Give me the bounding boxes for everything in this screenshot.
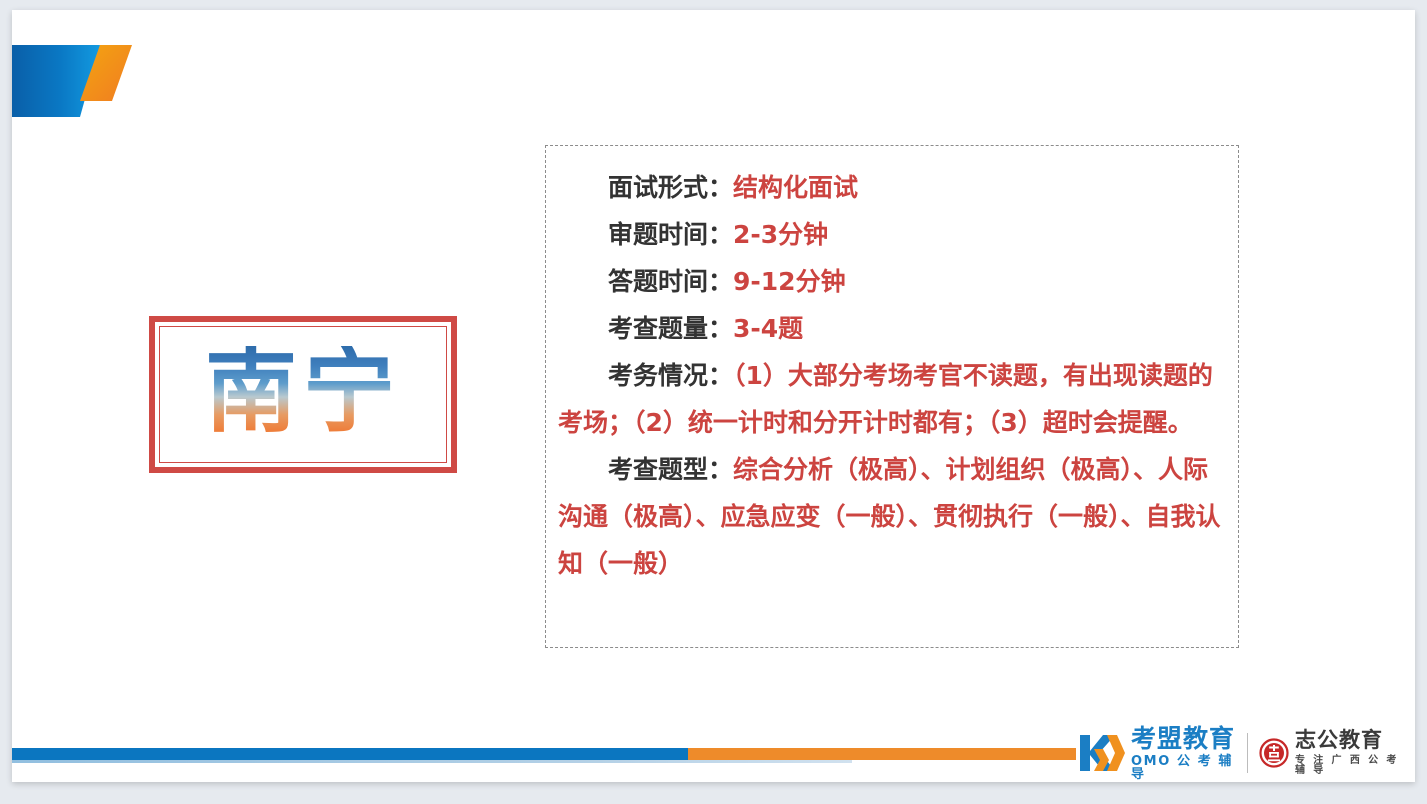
city-name: 南宁 [205, 346, 401, 444]
info-paragraph-label: 考查题型： [608, 455, 733, 484]
footer-rule-shadow [12, 760, 852, 763]
info-row: 面试形式：结构化面试 [558, 164, 1228, 211]
footer-logo-lockup: 考盟教育 OMO 公 考 辅 导 志公教育 专 注 广 西 公 考 辅 导 [1076, 728, 1415, 778]
info-row: 审题时间：2-3分钟 [558, 211, 1228, 258]
partner-text-group: 志公教育 专 注 广 西 公 考 辅 导 [1295, 730, 1415, 776]
info-row-label: 审题时间： [608, 220, 733, 249]
city-badge-frame: 南宁 [149, 316, 457, 473]
info-row: 答题时间：9-12分钟 [558, 258, 1228, 305]
brand-subtitle: OMO 公 考 辅 导 [1131, 755, 1236, 781]
info-row-label: 面试形式： [608, 173, 733, 202]
info-paragraph: 考查题型：综合分析（极高）、计划组织（极高）、人际沟通（极高）、应急应变（一般）… [558, 446, 1228, 587]
footer-rule [12, 748, 1076, 760]
info-row-value: 2-3分钟 [733, 220, 828, 249]
info-row-label: 答题时间： [608, 267, 733, 296]
info-row-value: 3-4题 [733, 314, 803, 343]
partner-title: 志公教育 [1295, 730, 1415, 751]
info-paragraph-label: 考务情况： [608, 361, 733, 390]
kmeng-logo-icon [1076, 731, 1128, 775]
footer-rule-orange [688, 748, 1076, 760]
info-row-label: 考查题量： [608, 314, 733, 343]
info-box: 面试形式：结构化面试 审题时间：2-3分钟 答题时间：9-12分钟 考查题量：3… [545, 145, 1239, 648]
corner-ribbon-icon [12, 45, 132, 117]
slide-canvas: 南宁 面试形式：结构化面试 审题时间：2-3分钟 答题时间：9-12分钟 考查题… [12, 10, 1415, 782]
info-row: 考查题量：3-4题 [558, 305, 1228, 352]
info-row-value: 结构化面试 [733, 173, 858, 202]
brand-title: 考盟教育 [1131, 726, 1236, 751]
footer-rule-blue [12, 748, 688, 760]
zhi-seal-icon [1259, 738, 1289, 768]
partner-subtitle: 专 注 广 西 公 考 辅 导 [1295, 756, 1415, 776]
info-box-content: 面试形式：结构化面试 审题时间：2-3分钟 答题时间：9-12分钟 考查题量：3… [546, 146, 1238, 597]
info-row-value: 9-12分钟 [733, 267, 846, 296]
info-paragraph: 考务情况：（1）大部分考场考官不读题，有出现读题的考场；（2）统一计时和分开计时… [558, 352, 1228, 446]
brand-text-group: 考盟教育 OMO 公 考 辅 导 [1131, 726, 1236, 781]
logo-divider [1247, 733, 1248, 773]
city-badge-inner: 南宁 [159, 326, 447, 463]
